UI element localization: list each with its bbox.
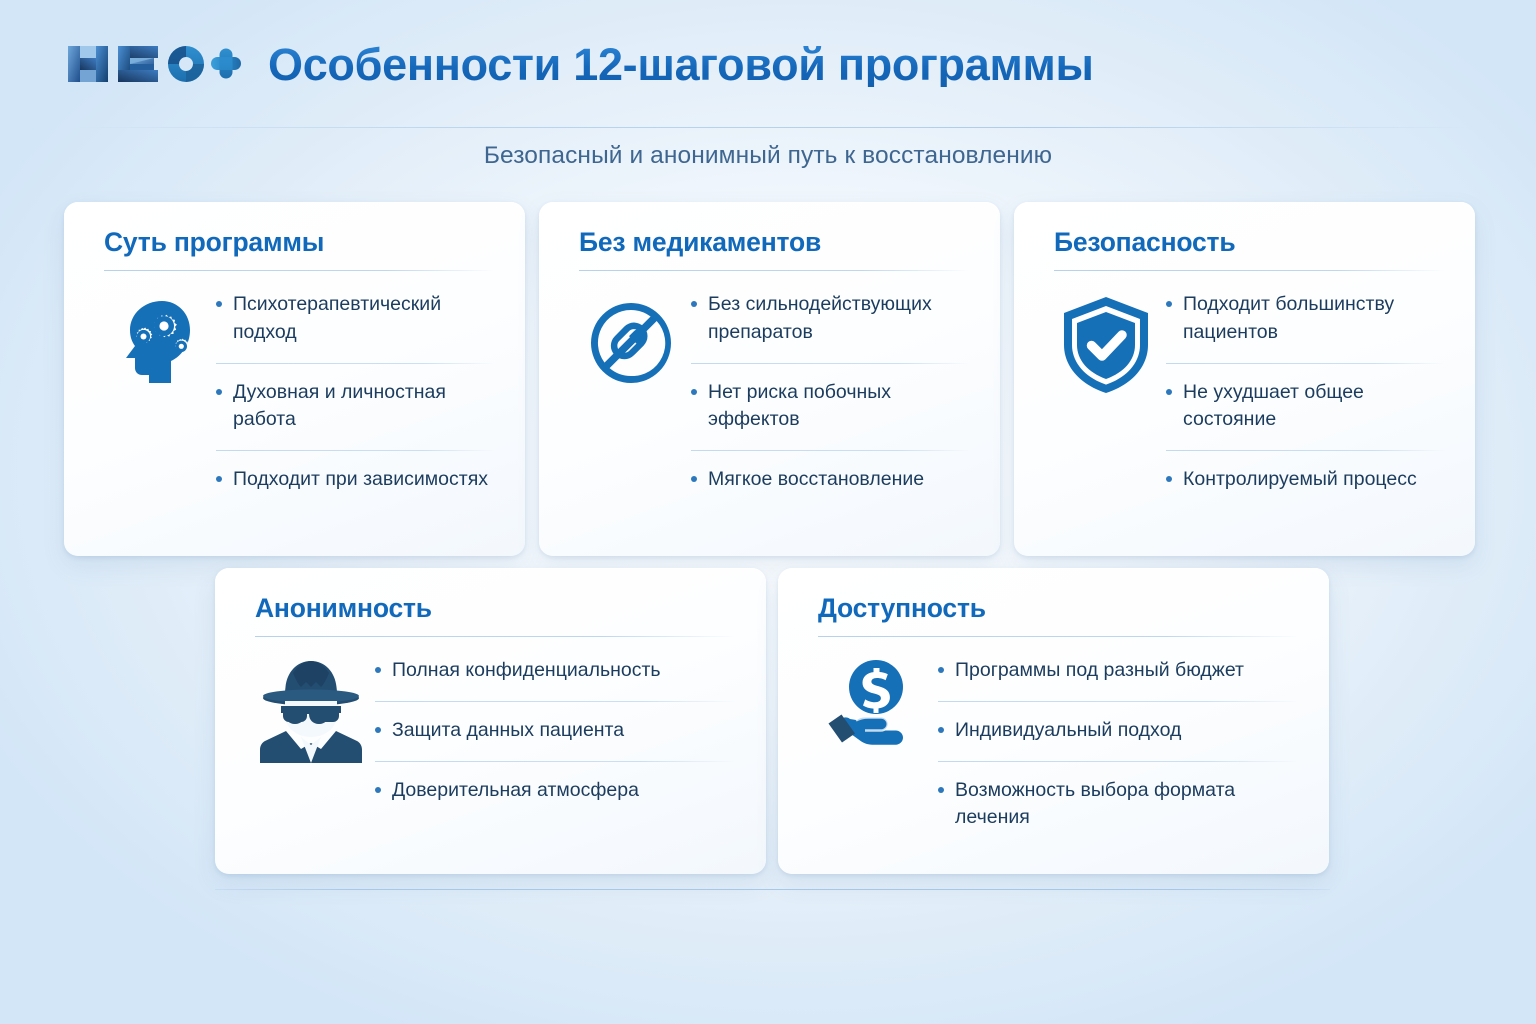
bullet-dot-icon xyxy=(1166,301,1172,307)
bullet-text: Индивидуальный подход xyxy=(955,717,1181,745)
card-body: Подходит большинству пациентов Не ухудша… xyxy=(1054,271,1445,534)
list-item: Духовная и личностная работа xyxy=(216,363,495,450)
cards-row-top: Суть программы xyxy=(64,202,1476,556)
card-body: Программы под разный бюджет Индивидуальн… xyxy=(818,637,1299,852)
bullet-text: Подходит большинству пациентов xyxy=(1183,291,1445,346)
bullet-text: Духовная и личностная работа xyxy=(233,379,495,434)
page-title: Особенности 12-шаговой программы xyxy=(268,42,1094,87)
card-body: Психотерапевтический подход Духовная и л… xyxy=(104,271,495,534)
bullet-dot-icon xyxy=(375,727,381,733)
list-item: Психотерапевтический подход xyxy=(216,291,495,362)
bullet-text: Без сильнодействующих препаратов xyxy=(708,291,970,346)
cards-row-bottom: Анонимность xyxy=(215,568,1330,874)
bullet-dot-icon xyxy=(938,727,944,733)
list-item: Без сильнодействующих препаратов xyxy=(691,291,970,362)
no-pills-icon xyxy=(579,291,683,391)
bullet-dot-icon xyxy=(1166,389,1172,395)
bullet-text: Защита данных пациента xyxy=(392,717,624,745)
bullet-dot-icon xyxy=(375,667,381,673)
bullet-text: Психотерапевтический подход xyxy=(233,291,495,346)
bullet-text: Полная конфиденциальность xyxy=(392,657,661,685)
card-title: Без медикаментов xyxy=(579,228,970,257)
bullet-text: Возможность выбора формата лечения xyxy=(955,777,1299,832)
card-body: Полная конфиденциальность Защита данных … xyxy=(255,637,736,852)
page-subtitle: Безопасный и анонимный путь к восстановл… xyxy=(0,142,1536,170)
card-title: Суть программы xyxy=(104,228,495,257)
bullet-dot-icon xyxy=(216,476,222,482)
list-item: Программы под разный бюджет xyxy=(938,657,1299,701)
bullet-dot-icon xyxy=(216,389,222,395)
list-item: Подходит при зависимостях xyxy=(216,450,495,494)
bullet-list: Психотерапевтический подход Духовная и л… xyxy=(216,291,495,493)
head-with-gears-icon xyxy=(104,291,208,391)
bullet-list: Подходит большинству пациентов Не ухудша… xyxy=(1166,291,1445,493)
list-item: Подходит большинству пациентов xyxy=(1166,291,1445,362)
bullet-text: Подходит при зависимостях xyxy=(233,466,488,494)
hand-holding-dollar-icon xyxy=(818,657,930,761)
footer-divider xyxy=(215,889,1330,890)
bullet-dot-icon xyxy=(938,787,944,793)
list-item: Защита данных пациента xyxy=(375,701,736,761)
neo-plus-logo-icon xyxy=(66,36,242,92)
bullet-text: Нет риска побочных эффектов xyxy=(708,379,970,434)
bullet-dot-icon xyxy=(375,787,381,793)
bullet-dot-icon xyxy=(691,301,697,307)
list-item: Нет риска побочных эффектов xyxy=(691,363,970,450)
bullet-list: Программы под разный бюджет Индивидуальн… xyxy=(938,657,1299,832)
bullet-text: Не ухудшает общее состояние xyxy=(1183,379,1445,434)
shield-check-icon xyxy=(1054,291,1158,395)
list-item: Контролируемый процесс xyxy=(1166,450,1445,494)
list-item: Не ухудшает общее состояние xyxy=(1166,363,1445,450)
bullet-text: Мягкое восстановление xyxy=(708,466,924,494)
bullet-text: Контролируемый процесс xyxy=(1183,466,1417,494)
card-safety[interactable]: Безопасность Подходит большинству пациен… xyxy=(1014,202,1475,556)
list-item: Индивидуальный подход xyxy=(938,701,1299,761)
bullet-dot-icon xyxy=(691,476,697,482)
card-title: Доступность xyxy=(818,594,1299,623)
card-affordability[interactable]: Доступность xyxy=(778,568,1329,874)
header-divider xyxy=(66,127,1470,128)
card-no-medication[interactable]: Без медикаментов Без сильнодей xyxy=(539,202,1000,556)
card-program-essence[interactable]: Суть программы xyxy=(64,202,525,556)
spy-incognito-icon xyxy=(255,657,367,765)
list-item: Полная конфиденциальность xyxy=(375,657,736,701)
list-item: Доверительная атмосфера xyxy=(375,761,736,805)
page-header: Особенности 12-шаговой программы xyxy=(0,0,1536,128)
card-title: Анонимность xyxy=(255,594,736,623)
list-item: Мягкое восстановление xyxy=(691,450,970,494)
card-body: Без сильнодействующих препаратов Нет рис… xyxy=(579,271,970,534)
bullet-dot-icon xyxy=(1166,476,1172,482)
bullet-dot-icon xyxy=(216,301,222,307)
bullet-list: Без сильнодействующих препаратов Нет рис… xyxy=(691,291,970,493)
bullet-list: Полная конфиденциальность Защита данных … xyxy=(375,657,736,804)
card-anonymity[interactable]: Анонимность xyxy=(215,568,766,874)
bullet-dot-icon xyxy=(938,667,944,673)
bullet-dot-icon xyxy=(691,389,697,395)
card-title: Безопасность xyxy=(1054,228,1445,257)
list-item: Возможность выбора формата лечения xyxy=(938,761,1299,832)
bullet-text: Программы под разный бюджет xyxy=(955,657,1244,685)
infographic-canvas: Особенности 12-шаговой программы Безопас… xyxy=(0,0,1536,1024)
bullet-text: Доверительная атмосфера xyxy=(392,777,639,805)
